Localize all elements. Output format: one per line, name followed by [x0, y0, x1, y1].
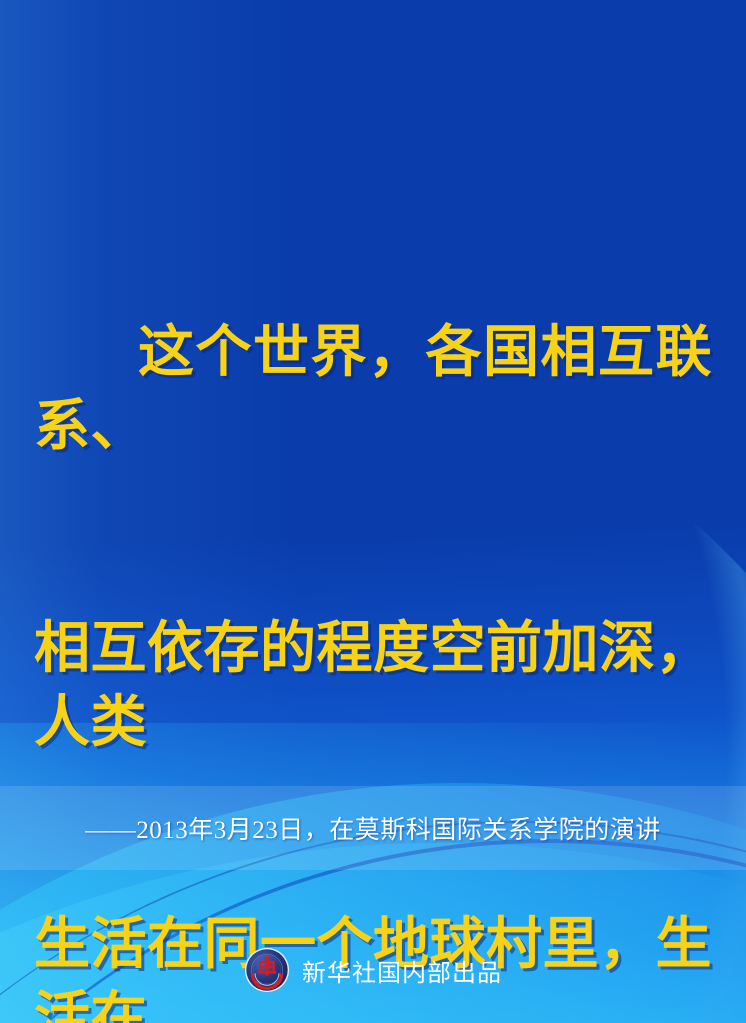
- xinhua-logo-icon: [244, 947, 290, 993]
- footer: 新华社国内部出品: [0, 947, 746, 993]
- quote-line: 这个世界，各国相互联系、: [34, 316, 712, 464]
- attribution-text: ——2013年3月23日，在莫斯科国际关系学院的演讲: [0, 786, 746, 870]
- footer-label: 新华社国内部出品: [302, 953, 502, 988]
- quote-text: 这个世界，各国相互联系、 相互依存的程度空前加深，人类 生活在同一个地球村里，生…: [34, 168, 712, 1023]
- quote-line: 相互依存的程度空前加深，人类: [34, 612, 712, 760]
- poster-canvas: 这个世界，各国相互联系、 相互依存的程度空前加深，人类 生活在同一个地球村里，生…: [0, 0, 746, 1023]
